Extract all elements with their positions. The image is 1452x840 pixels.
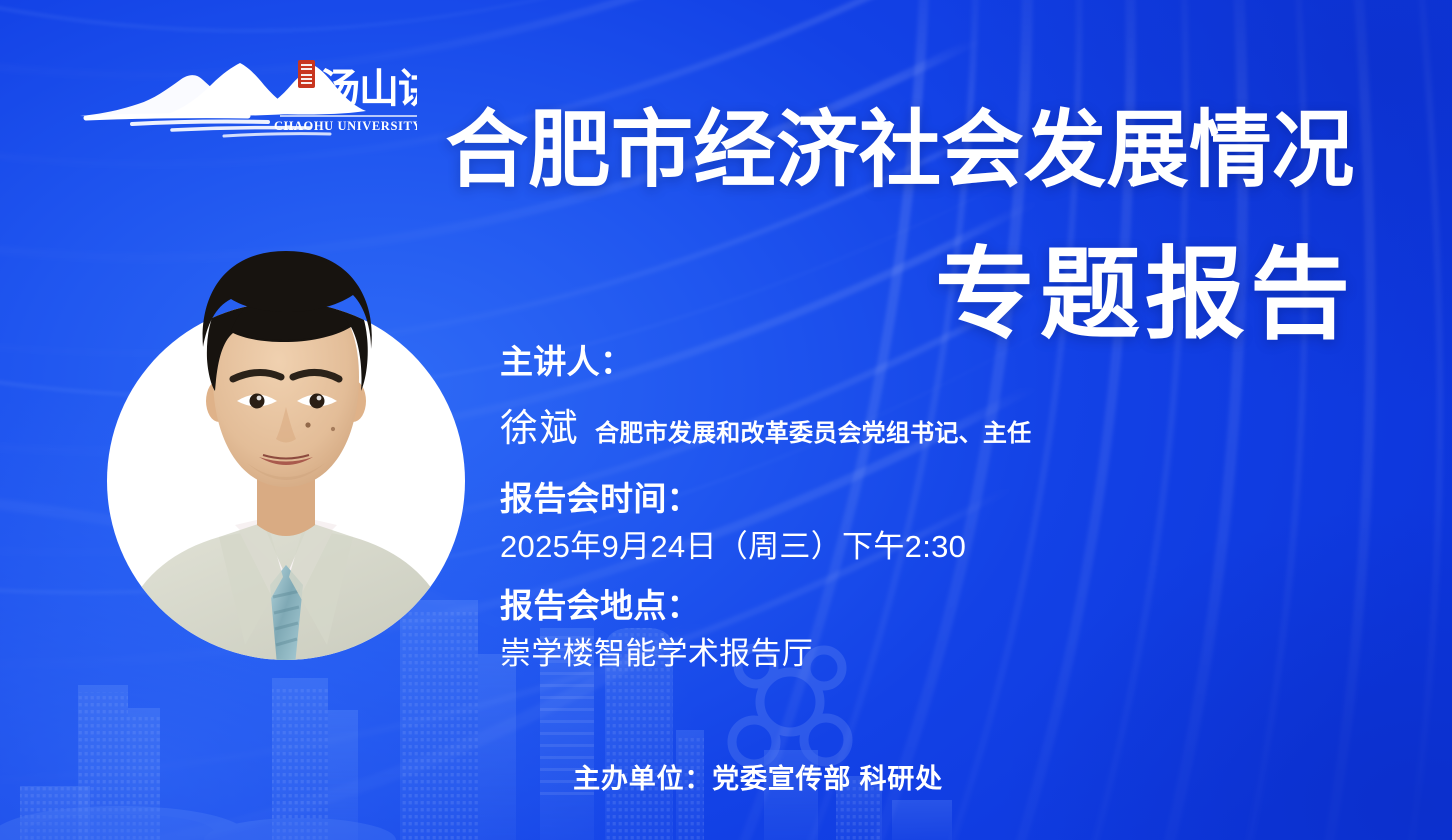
headline-line-2: 专题报告 bbox=[427, 243, 1355, 347]
speaker-name: 徐斌 bbox=[500, 397, 579, 452]
logo-title-cn: 汤山讲坛 bbox=[320, 66, 417, 112]
logo-subtitle-en: CHAOHU UNIVERSITY bbox=[274, 119, 417, 133]
headline-line-1: 合肥市经济社会发展情况 bbox=[446, 107, 1355, 193]
speaker-label: 主讲人： bbox=[500, 343, 1031, 381]
place-value: 崇学楼智能学术报告厅 bbox=[500, 635, 1031, 672]
poster-root: 汤山讲坛 CHAOHU UNIVERSITY bbox=[0, 0, 1452, 840]
organizer-footer: 主办单位：党委宣传部 科研处 bbox=[0, 757, 1452, 796]
time-label: 报告会时间： bbox=[500, 480, 1031, 518]
place-label: 报告会地点： bbox=[500, 587, 1031, 625]
red-seal-icon bbox=[298, 60, 315, 88]
organizer-text: 主办单位：党委宣传部 科研处 bbox=[509, 757, 943, 796]
speaker-row: 徐斌 合肥市发展和改革委员会党组书记、主任 bbox=[500, 397, 1031, 452]
event-info-block: 主讲人： 徐斌 合肥市发展和改革委员会党组书记、主任 报告会时间： 2025年9… bbox=[500, 343, 1031, 672]
time-value: 2025年9月24日（周三）下午2:30 bbox=[500, 528, 1031, 565]
poster-headline: 合肥市经济社会发展情况 专题报告 bbox=[427, 107, 1355, 347]
speaker-title: 合肥市发展和改革委员会党组书记、主任 bbox=[595, 413, 1031, 448]
tangshan-forum-logo: 汤山讲坛 CHAOHU UNIVERSITY bbox=[72, 54, 417, 150]
speaker-portrait bbox=[107, 225, 465, 665]
